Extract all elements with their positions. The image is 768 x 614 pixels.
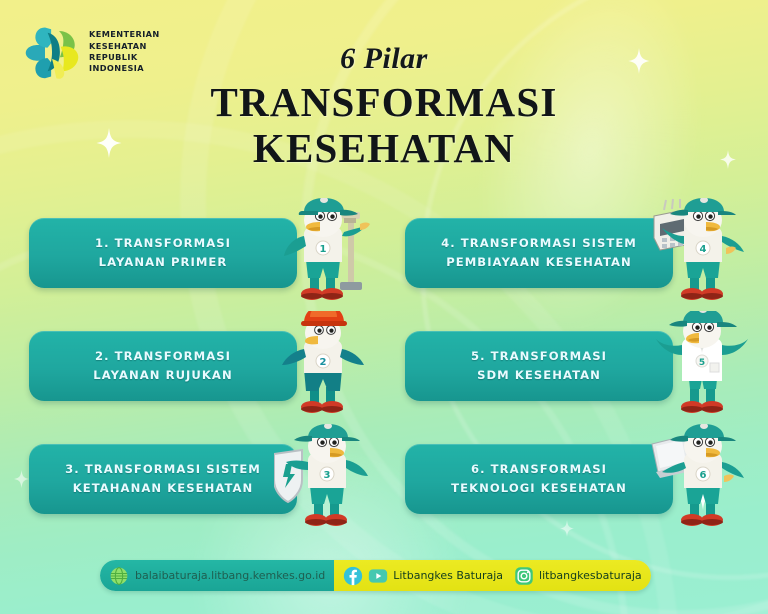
pillar-line-5b: SDM KESEHATAN: [477, 366, 601, 385]
pillar-line-5a: 5. TRANSFORMASI: [471, 347, 607, 366]
page-title: 6 Pilar TRANSFORMASI KESEHATAN: [0, 42, 768, 171]
facebook-icon[interactable]: [343, 566, 363, 586]
footer-social-segment[interactable]: Litbangkes Baturaja litbangkesbaturaja: [334, 560, 650, 591]
pillar-label-6[interactable]: 6. TRANSFORMASI TEKNOLOGI KESEHATAN: [405, 444, 673, 514]
pillar-row: 1. TRANSFORMASI LAYANAN PRIMER: [0, 196, 768, 309]
pillar-card-5[interactable]: 5. TRANSFORMASI SDM KESEHATAN 5: [398, 309, 758, 422]
svg-text:6: 6: [700, 470, 707, 481]
pillar-card-1[interactable]: 1. TRANSFORMASI LAYANAN PRIMER: [22, 196, 382, 309]
pillar-row: 3. TRANSFORMASI SISTEM KETAHANAN KESEHAT…: [0, 422, 768, 535]
globe-icon: [109, 566, 129, 586]
pillar-card-3[interactable]: 3. TRANSFORMASI SISTEM KETAHANAN KESEHAT…: [22, 422, 382, 535]
title-line-2: KESEHATAN: [0, 126, 768, 170]
mascot-garuda-with-shield-icon: 3: [274, 424, 378, 532]
pillar-row: 2. TRANSFORMASI LAYANAN RUJUKAN 2: [0, 309, 768, 422]
instagram-icon[interactable]: [514, 566, 534, 586]
pillar-line-4a: 4. TRANSFORMASI SISTEM: [441, 234, 637, 253]
footer-instagram-handle: litbangkesbaturaja: [539, 569, 642, 582]
mascot-garuda-doctor-coat-icon: 5: [650, 311, 754, 419]
pillar-label-2[interactable]: 2. TRANSFORMASI LAYANAN RUJUKAN: [29, 331, 297, 401]
footer-website-segment[interactable]: balaibaturaja.litbang.kemkes.go.id: [100, 560, 334, 591]
mascot-garuda-with-laptop-icon: 6: [650, 424, 754, 532]
pillar-line-4b: PEMBIAYAAN KESEHATAN: [446, 253, 632, 272]
pillar-line-1b: LAYANAN PRIMER: [99, 253, 228, 272]
pillar-line-3b: KETAHANAN KESEHATAN: [73, 479, 254, 498]
pillar-label-1[interactable]: 1. TRANSFORMASI LAYANAN PRIMER: [29, 218, 297, 288]
pillar-line-1a: 1. TRANSFORMASI: [95, 234, 231, 253]
svg-text:1: 1: [320, 244, 327, 255]
pillar-line-6a: 6. TRANSFORMASI: [471, 460, 607, 479]
svg-text:2: 2: [320, 357, 327, 368]
footer-contact-bar: balaibaturaja.litbang.kemkes.go.id Litba…: [100, 560, 651, 591]
pillar-label-5[interactable]: 5. TRANSFORMASI SDM KESEHATAN: [405, 331, 673, 401]
pillar-line-2a: 2. TRANSFORMASI: [95, 347, 231, 366]
logo-line-1: KEMENTERIAN: [89, 29, 160, 40]
mascot-garuda-with-weight-scale-icon: 1: [274, 198, 378, 306]
pillar-label-3[interactable]: 3. TRANSFORMASI SISTEM KETAHANAN KESEHAT…: [29, 444, 297, 514]
footer-website-text: balaibaturaja.litbang.kemkes.go.id: [135, 569, 325, 582]
footer-social-name: Litbangkes Baturaja: [393, 569, 503, 582]
pillar-card-2[interactable]: 2. TRANSFORMASI LAYANAN RUJUKAN 2: [22, 309, 382, 422]
svg-text:4: 4: [700, 244, 707, 255]
svg-text:3: 3: [324, 470, 331, 481]
pillar-label-4[interactable]: 4. TRANSFORMASI SISTEM PEMBIAYAAN KESEHA…: [405, 218, 673, 288]
title-line-1: TRANSFORMASI: [0, 80, 768, 124]
pillar-line-3a: 3. TRANSFORMASI SISTEM: [65, 460, 261, 479]
svg-text:5: 5: [699, 358, 705, 368]
pillar-card-4[interactable]: 4. TRANSFORMASI SISTEM PEMBIAYAAN KESEHA…: [398, 196, 758, 309]
pillar-card-6[interactable]: 6. TRANSFORMASI TEKNOLOGI KESEHATAN 6: [398, 422, 758, 535]
title-eyebrow: 6 Pilar: [0, 42, 768, 76]
mascot-garuda-with-cash-register-icon: 4: [650, 198, 754, 306]
pillar-line-6b: TEKNOLOGI KESEHATAN: [451, 479, 627, 498]
youtube-icon[interactable]: [368, 566, 388, 586]
pillar-line-2b: LAYANAN RUJUKAN: [93, 366, 232, 385]
pillar-grid: 1. TRANSFORMASI LAYANAN PRIMER: [0, 196, 768, 535]
mascot-garuda-with-red-helmet-icon: 2: [274, 311, 378, 419]
